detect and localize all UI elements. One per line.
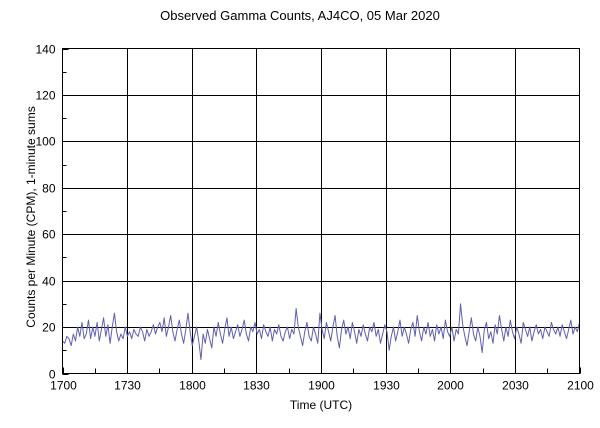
y-tick-label: 40 (42, 275, 56, 289)
x-tick-label: 2100 (567, 379, 594, 393)
x-tick-label: 1700 (50, 379, 77, 393)
x-tick-label: 1800 (179, 379, 206, 393)
gamma-counts-chart: Observed Gamma Counts, AJ4CO, 05 Mar 202… (0, 0, 600, 428)
y-tick-label: 120 (35, 89, 55, 103)
y-tick-label: 140 (35, 43, 55, 57)
x-tick-label: 2000 (437, 379, 464, 393)
y-tick-label: 60 (42, 228, 56, 242)
plot-area: 0204060801001201401700173018001830190019… (0, 0, 600, 428)
x-tick-label: 1830 (243, 379, 270, 393)
x-tick-label: 2030 (502, 379, 529, 393)
x-tick-label: 1730 (114, 379, 141, 393)
y-tick-label: 80 (42, 182, 56, 196)
x-tick-label: 1900 (308, 379, 335, 393)
y-tick-label: 20 (42, 321, 56, 335)
x-tick-label: 1930 (373, 379, 400, 393)
y-tick-label: 100 (35, 135, 55, 149)
